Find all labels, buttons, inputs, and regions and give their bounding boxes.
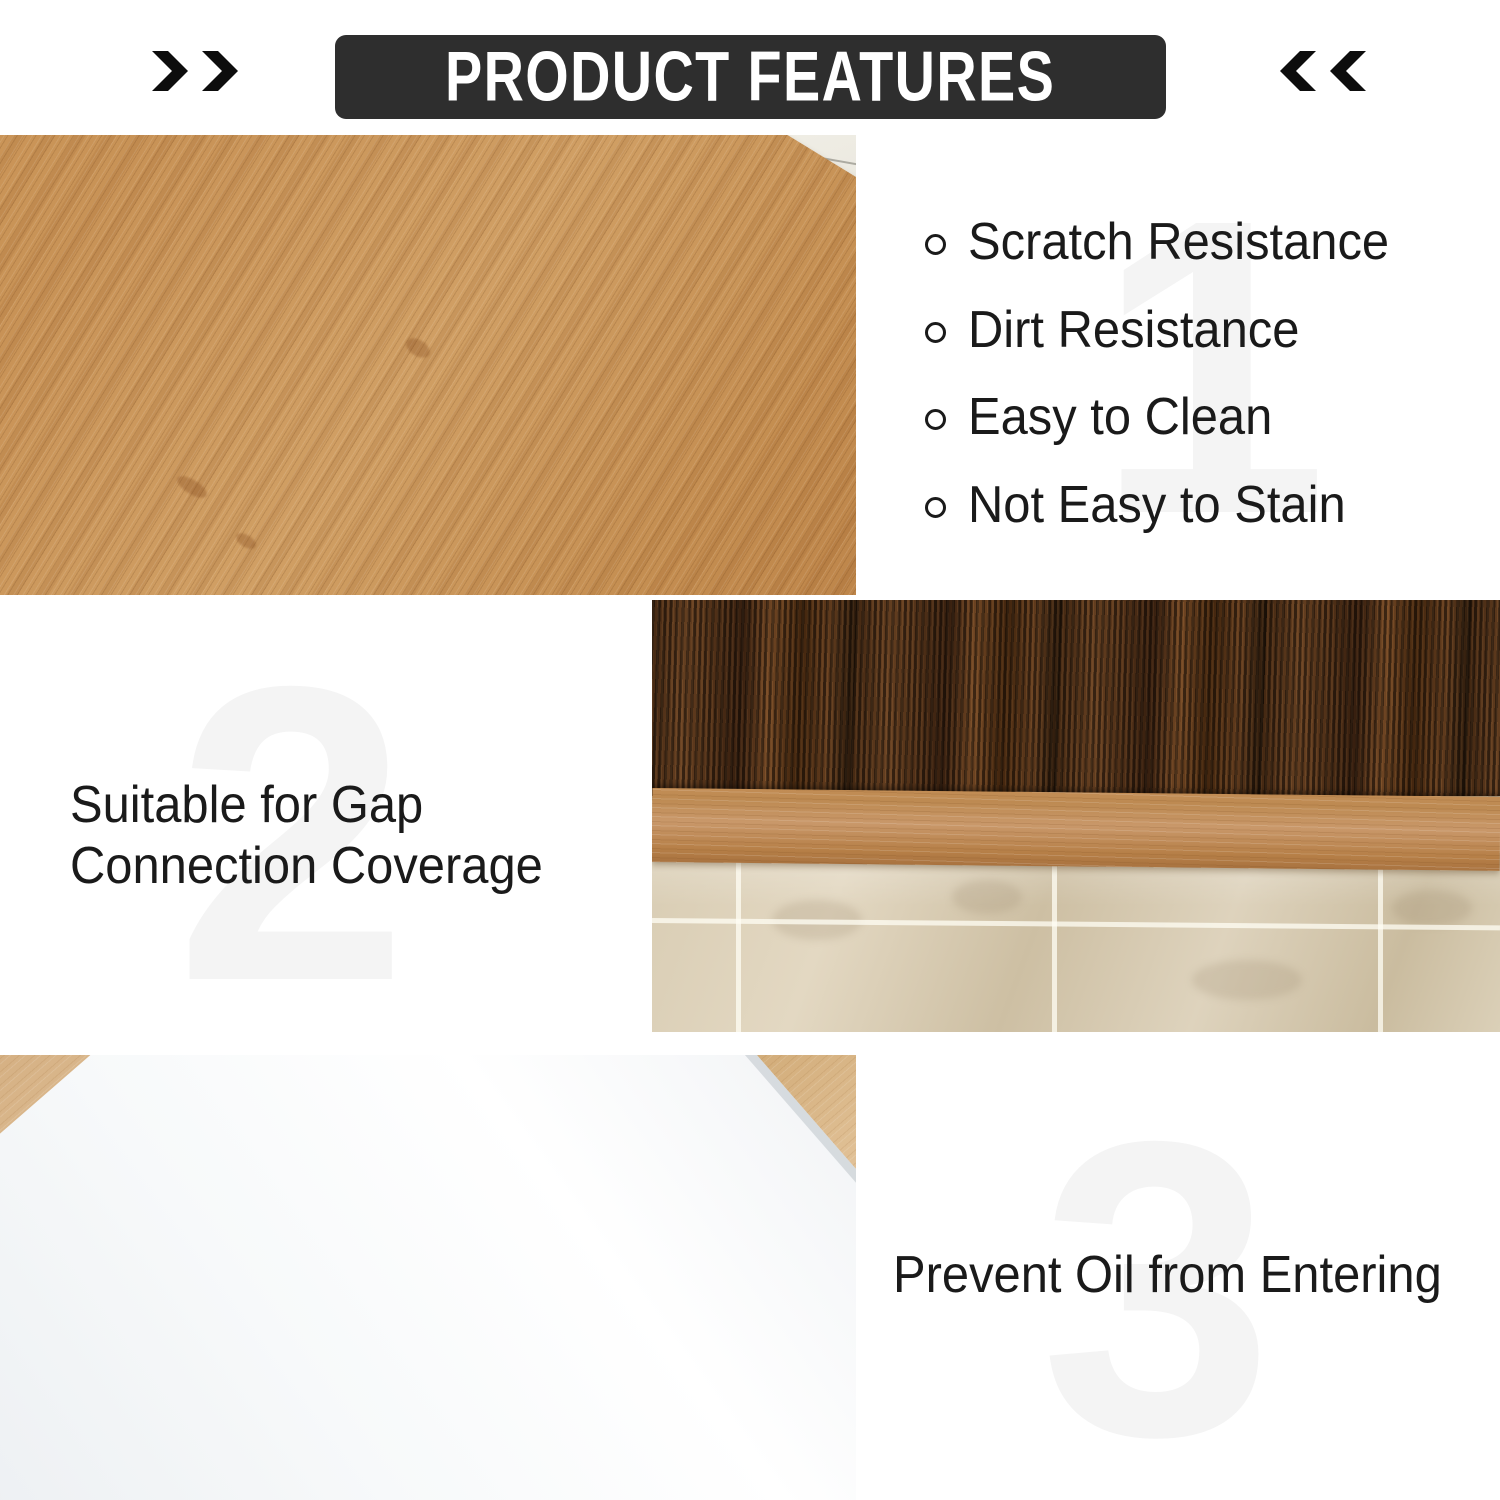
photo-bamboo-plank-over-marble-tile	[0, 135, 856, 595]
photo-oak-trim-at-white-baseboard	[0, 1055, 856, 1500]
chevron-left-icon-2	[1326, 48, 1370, 94]
feature-label: Dirt Resistance	[968, 303, 1299, 358]
page-title: PRODUCT FEATURES	[445, 42, 1055, 113]
feature-label: Not Easy to Stain	[968, 478, 1346, 533]
feature-label: Easy to Clean	[968, 390, 1272, 445]
hollow-circle-bullet-icon	[925, 234, 946, 255]
feature-item: Scratch Resistance	[925, 215, 1485, 270]
chevron-right-icon-1	[148, 48, 192, 94]
double-chevron-right-icon	[148, 48, 242, 94]
section-2-caption: Suitable for Gap Connection Coverage	[70, 775, 596, 898]
header: PRODUCT FEATURES	[0, 0, 1500, 130]
caption-line: Connection Coverage	[70, 836, 596, 897]
page-title-plate: PRODUCT FEATURES	[335, 35, 1166, 119]
tile-grout-line	[736, 852, 741, 1032]
chevron-right-icon-2	[198, 48, 242, 94]
feature-label: Scratch Resistance	[968, 215, 1389, 270]
feature-list: Scratch Resistance Dirt Resistance Easy …	[925, 215, 1485, 565]
feature-item: Easy to Clean	[925, 390, 1485, 445]
feature-item: Dirt Resistance	[925, 303, 1485, 358]
section-3-caption: Prevent Oil from Entering	[893, 1245, 1457, 1306]
travertine-tile-floor	[652, 852, 1500, 1032]
tile-mottle	[1192, 960, 1302, 1000]
caption-line: Suitable for Gap	[70, 775, 596, 836]
tile-grout-line	[1052, 852, 1057, 1032]
product-features-infographic: PRODUCT FEATURES	[0, 0, 1500, 1500]
chevron-left-icon-1	[1276, 48, 1320, 94]
baseboard-edge-shadow	[0, 1055, 856, 1500]
tile-mottle	[952, 880, 1022, 914]
hollow-circle-bullet-icon	[925, 322, 946, 343]
feature-item: Not Easy to Stain	[925, 478, 1485, 533]
oak-transition-strip	[652, 788, 1500, 871]
plank-edge-shadow	[0, 135, 856, 595]
hollow-circle-bullet-icon	[925, 497, 946, 518]
caption-line: Prevent Oil from Entering	[893, 1245, 1457, 1306]
tile-mottle	[1392, 890, 1472, 926]
hollow-circle-bullet-icon	[925, 409, 946, 430]
tile-grout-line	[1378, 852, 1383, 1032]
double-chevron-left-icon	[1276, 48, 1370, 94]
dark-wood-grain	[652, 600, 1500, 796]
photo-oak-strip-between-dark-planks-and-travertine	[652, 600, 1500, 1032]
